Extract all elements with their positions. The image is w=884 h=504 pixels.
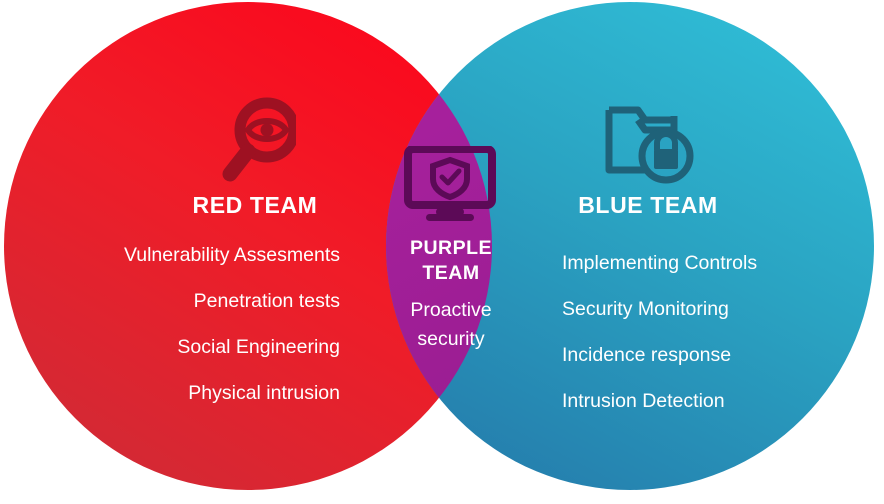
blue-team-list: Implementing Controls Security Monitorin…	[562, 240, 874, 424]
list-item: Intrusion Detection	[562, 378, 874, 424]
purple-team-subtitle-line2: security	[381, 325, 521, 354]
purple-team-subtitle-line1: Proactive	[381, 296, 521, 325]
purple-team-title: PURPLE TEAM	[381, 236, 521, 286]
list-item: Social Engineering	[30, 324, 340, 370]
magnifier-eye-icon	[218, 96, 296, 190]
venn-diagram: RED TEAM Vulnerability Assesments Penetr…	[0, 0, 884, 504]
purple-team-title-line1: PURPLE	[381, 236, 521, 261]
list-item: Vulnerability Assesments	[30, 232, 340, 278]
blue-team-title: BLUE TEAM	[488, 192, 808, 218]
list-item: Implementing Controls	[562, 240, 874, 286]
monitor-shield-check-icon	[400, 146, 500, 222]
folder-lock-icon	[604, 98, 694, 186]
red-team-title: RED TEAM	[95, 192, 415, 218]
list-item: Incidence response	[562, 332, 874, 378]
list-item: Physical intrusion	[30, 370, 340, 416]
list-item: Security Monitoring	[562, 286, 874, 332]
purple-team-subtitle: Proactive security	[381, 296, 521, 354]
purple-team-title-line2: TEAM	[381, 261, 521, 286]
list-item: Penetration tests	[30, 278, 340, 324]
red-team-list: Vulnerability Assesments Penetration tes…	[30, 232, 340, 416]
